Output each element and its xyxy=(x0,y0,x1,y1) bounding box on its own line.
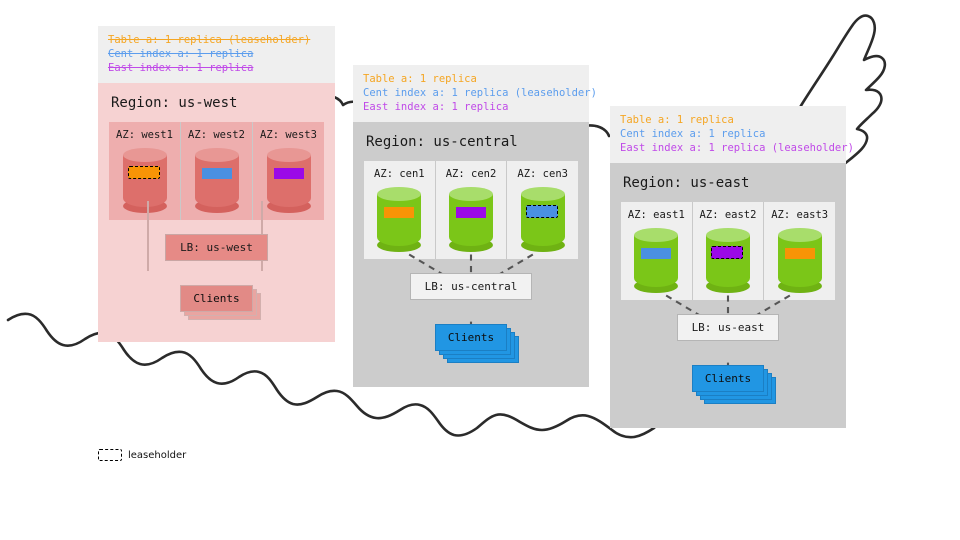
replica-legend-us-east: Table a: 1 replica Cent index a: 1 repli… xyxy=(610,106,846,163)
cylinder-top xyxy=(706,228,750,242)
az-label-west1: AZ: west1 xyxy=(109,129,180,141)
replica-line-east-index-a: East index a: 1 replica xyxy=(363,100,579,114)
az-cell-west2[interactable]: AZ: west2 xyxy=(180,122,252,220)
az-row-us-central: AZ: cen1 AZ: cen2 AZ: cen3 xyxy=(364,161,578,259)
region-us-west: Table a: 1 replica (leaseholder) Cent in… xyxy=(98,26,335,342)
region-title-us-west: Region: us-west xyxy=(111,95,324,111)
az-row-us-east: AZ: east1 AZ: east2 AZ: east3 xyxy=(621,202,835,300)
node-cylinder-west2[interactable] xyxy=(195,148,239,210)
az-label-west3: AZ: west3 xyxy=(253,129,324,141)
cylinder-body xyxy=(267,155,311,207)
cylinder-body xyxy=(778,235,822,287)
cylinder-body xyxy=(377,194,421,246)
clients-stack-us-west[interactable]: Clients xyxy=(180,285,252,312)
cylinder-body xyxy=(195,155,239,207)
cylinder-top xyxy=(195,148,239,162)
node-cylinder-cen1[interactable] xyxy=(377,187,421,249)
region-title-us-east: Region: us-east xyxy=(623,175,835,191)
replica-band-cent-index-a xyxy=(641,248,671,259)
cylinder-body xyxy=(123,155,167,207)
replica-band-table-a-leaseholder xyxy=(128,166,160,179)
replica-band-east-index-a xyxy=(274,168,304,179)
cylinder-top xyxy=(634,228,678,242)
az-label-east3: AZ: east3 xyxy=(764,209,835,221)
load-balancer-us-central[interactable]: LB: us-central xyxy=(410,273,533,300)
cylinder-body xyxy=(521,194,565,246)
region-body-us-central: Region: us-central AZ: cen1 AZ: cen2 xyxy=(353,122,589,387)
replica-band-east-index-a xyxy=(456,207,486,218)
cylinder-top xyxy=(123,148,167,162)
az-row-us-west: AZ: west1 AZ: west2 AZ: west3 xyxy=(109,122,324,220)
az-cell-cen3[interactable]: AZ: cen3 xyxy=(506,161,578,259)
cylinder-top xyxy=(377,187,421,201)
region-us-central: Table a: 1 replica Cent index a: 1 repli… xyxy=(353,65,589,387)
cylinder-top xyxy=(778,228,822,242)
connector-az-to-lb-west xyxy=(147,201,149,271)
replica-legend-us-west: Table a: 1 replica (leaseholder) Cent in… xyxy=(98,26,335,83)
node-cylinder-cen2[interactable] xyxy=(449,187,493,249)
az-cell-east3[interactable]: AZ: east3 xyxy=(763,202,835,300)
az-cell-west1[interactable]: AZ: west1 xyxy=(109,122,180,220)
node-cylinder-cen3[interactable] xyxy=(521,187,565,249)
az-label-cen1: AZ: cen1 xyxy=(364,168,435,180)
az-label-west2: AZ: west2 xyxy=(181,129,252,141)
replica-line-cent-index-a: Cent index a: 1 replica xyxy=(620,127,836,141)
clients-us-east[interactable]: Clients xyxy=(692,365,764,392)
load-balancer-us-west[interactable]: LB: us-west xyxy=(165,234,268,261)
replica-band-east-index-a-leaseholder xyxy=(711,246,743,259)
cylinder-top xyxy=(267,148,311,162)
legend: leaseholder xyxy=(98,449,186,461)
replica-band-cent-index-a-leaseholder xyxy=(526,205,558,218)
region-body-us-east: Region: us-east AZ: east1 AZ: east2 xyxy=(610,163,846,428)
az-label-cen3: AZ: cen3 xyxy=(507,168,578,180)
replica-line-east-index-a: East index a: 1 replica xyxy=(108,61,325,75)
replica-line-table-a: Table a: 1 replica xyxy=(620,113,836,127)
replica-line-east-index-a: East index a: 1 replica (leaseholder) xyxy=(620,141,836,155)
clients-us-central[interactable]: Clients xyxy=(435,324,507,351)
cylinder-top xyxy=(521,187,565,201)
replica-band-table-a xyxy=(384,207,414,218)
load-balancer-us-east[interactable]: LB: us-east xyxy=(677,314,780,341)
dashed-rect-icon xyxy=(98,449,122,461)
az-label-east2: AZ: east2 xyxy=(693,209,764,221)
clients-us-west[interactable]: Clients xyxy=(180,285,252,312)
node-cylinder-east1[interactable] xyxy=(634,228,678,290)
cylinder-body xyxy=(449,194,493,246)
az-cell-cen2[interactable]: AZ: cen2 xyxy=(435,161,507,259)
clients-stack-us-east[interactable]: Clients xyxy=(692,365,764,392)
az-label-east1: AZ: east1 xyxy=(621,209,692,221)
region-title-us-central: Region: us-central xyxy=(366,134,578,150)
node-cylinder-west3[interactable] xyxy=(267,148,311,210)
region-body-us-west: Region: us-west AZ: west1 AZ: west2 xyxy=(98,83,335,342)
cylinder-top xyxy=(449,187,493,201)
replica-line-table-a: Table a: 1 replica (leaseholder) xyxy=(108,33,325,47)
node-cylinder-east2[interactable] xyxy=(706,228,750,290)
replica-line-table-a: Table a: 1 replica xyxy=(363,72,579,86)
cylinder-body xyxy=(634,235,678,287)
replica-line-cent-index-a: Cent index a: 1 replica (leaseholder) xyxy=(363,86,579,100)
az-label-cen2: AZ: cen2 xyxy=(436,168,507,180)
az-cell-east1[interactable]: AZ: east1 xyxy=(621,202,692,300)
replica-legend-us-central: Table a: 1 replica Cent index a: 1 repli… xyxy=(353,65,589,122)
cylinder-body xyxy=(706,235,750,287)
clients-stack-us-central[interactable]: Clients xyxy=(435,324,507,351)
az-cell-cen1[interactable]: AZ: cen1 xyxy=(364,161,435,259)
node-cylinder-east3[interactable] xyxy=(778,228,822,290)
node-cylinder-west1[interactable] xyxy=(123,148,167,210)
replica-band-table-a xyxy=(785,248,815,259)
az-cell-west3[interactable]: AZ: west3 xyxy=(252,122,324,220)
replica-line-cent-index-a: Cent index a: 1 replica xyxy=(108,47,325,61)
replica-band-cent-index-a xyxy=(202,168,232,179)
region-us-east: Table a: 1 replica Cent index a: 1 repli… xyxy=(610,106,846,428)
legend-label: leaseholder xyxy=(128,450,186,461)
az-cell-east2[interactable]: AZ: east2 xyxy=(692,202,764,300)
